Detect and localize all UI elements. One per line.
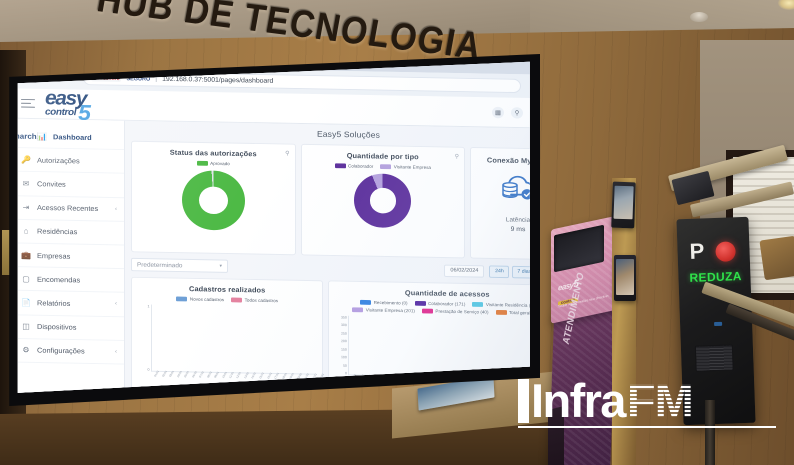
sidebar-item-residencias[interactable]: ⌂ Residências — [12, 220, 124, 246]
sidebar-item-configuracoes[interactable]: ⚙ Configurações ‹ — [12, 339, 124, 365]
chevron-icon: ‹ — [115, 349, 117, 355]
smoke-detector-icon — [690, 12, 708, 22]
totem-status-text: REDUZA — [689, 269, 742, 285]
sidebar-item-convites[interactable]: ✉ Convites — [12, 172, 124, 198]
bar-slot — [419, 317, 426, 376]
grid-icon[interactable]: ▦ — [492, 106, 504, 118]
bar-slot — [377, 316, 384, 375]
latency-value: 9 ms — [511, 226, 526, 233]
bar-slot — [447, 318, 454, 377]
y-tick: 0 — [148, 368, 150, 372]
bar-slot — [384, 316, 391, 375]
chevron-down-icon: ▾ — [219, 263, 222, 269]
sidebar-item-dispositivos[interactable]: ◫ Dispositivos — [12, 315, 124, 341]
tablet-upper[interactable] — [611, 182, 636, 229]
chart-title: Quantidade de acessos — [334, 287, 534, 300]
sidebar-item-label: Convites — [37, 180, 66, 189]
card-conexao-myeasy: Conexão MyEasy — [470, 147, 534, 260]
legend-label: Todos cadastros — [245, 298, 278, 303]
device-icon: ◫ — [21, 322, 31, 332]
legend-acessos: Recebimento (0)Colaborador (171)Visitant… — [334, 299, 534, 315]
bar-slot — [468, 318, 475, 377]
y-tick: 200 — [341, 340, 347, 344]
legend-status: Aprovado — [137, 160, 290, 168]
legend-item: Visitante Empresa (201) — [352, 307, 415, 313]
legend-swatch — [335, 163, 346, 168]
bar-slot — [412, 317, 419, 376]
legend-swatch — [176, 297, 187, 302]
tablet-lower[interactable] — [614, 255, 636, 301]
y-tick: 100 — [341, 355, 347, 359]
legend-label: Visitante Residência (0) — [486, 302, 534, 308]
app-header-actions: ▦ ⚲ ☏ — [492, 105, 534, 120]
legend-swatch — [197, 161, 208, 166]
legend-label: Aprovado — [210, 161, 230, 166]
legend-item: Visitante Residência (0) — [472, 302, 534, 308]
sidebar-item-label: Encomendas — [37, 275, 80, 284]
magnifier-icon[interactable]: ⚲ — [285, 150, 289, 157]
logo-five-text: 5 — [78, 105, 91, 120]
donut-tipo-wrap — [307, 172, 460, 229]
legend-label: Recebimento (0) — [374, 300, 408, 305]
sidebar-item-label: Dispositivos — [37, 322, 76, 331]
bar-slot — [482, 318, 489, 377]
magnifier-icon[interactable]: ⚲ — [455, 153, 459, 160]
bar-slot — [405, 317, 412, 376]
legend-label: Colaborador (171) — [428, 301, 465, 306]
easycontrol-logo: easy control 5 — [45, 90, 91, 118]
legend-swatch — [352, 307, 363, 312]
card-title: Status das autorizações — [137, 147, 290, 158]
donut-status-wrap — [137, 169, 290, 231]
sidebar-item-label: Configurações — [37, 346, 85, 355]
bar-slot — [370, 316, 377, 375]
bar-slot — [433, 317, 440, 376]
plot-area — [151, 305, 315, 375]
bar-slot — [363, 316, 370, 375]
bar-chart-icon: march; — [21, 131, 31, 141]
sidebar: march; 📊 Dashboard 🔑 Autorizações ✉ Conv… — [12, 119, 125, 396]
tablet-upper-screen — [614, 186, 634, 220]
chart-title: Cadastros realizados — [137, 284, 317, 296]
kiosk-stand — [548, 406, 564, 465]
page-title: Easy5 Soluções — [131, 126, 534, 143]
legend-label: Novos cadastros — [190, 297, 224, 302]
legend-item: Prestação de Serviço (40) — [422, 309, 489, 315]
sidebar-item-encomendas[interactable]: ▢ Encomendas — [12, 267, 124, 293]
main-content: Easy5 Soluções Status das autorizações ⚲… — [125, 121, 534, 399]
bar-slot — [454, 318, 461, 377]
omnibox-url: 192.168.0.37:5001/pages/dashboard — [162, 76, 273, 85]
logo-row2: control 5 — [45, 104, 91, 118]
sidebar-item-dashboard[interactable]: march; 📊 Dashboard — [12, 124, 124, 150]
bar-slot — [349, 316, 356, 375]
legend-item: Total geral (474) — [496, 310, 534, 316]
legend-swatch — [360, 300, 371, 305]
legend-swatch — [415, 301, 426, 306]
filter-spacer — [233, 266, 439, 270]
card-cadastros-realizados: Cadastros realizados Novos cadastrosTodo… — [131, 277, 323, 394]
card-status-autorizacoes: Status das autorizações ⚲ Aprovado — [131, 141, 296, 256]
period-select[interactable]: Predeterminado ▾ — [131, 258, 228, 273]
top-card-row: Status das autorizações ⚲ Aprovado Quant… — [131, 141, 534, 261]
parking-totem: P REDUZA — [676, 217, 755, 425]
app-body: march; 📊 Dashboard 🔑 Autorizações ✉ Conv… — [12, 119, 534, 399]
sidebar-item-relatorios[interactable]: 📄 Relatórios ‹ — [12, 291, 124, 317]
logo-control-text: control — [45, 109, 76, 118]
legend-swatch — [231, 298, 242, 303]
legend-label: Visitante Empresa — [394, 164, 431, 169]
chevron-icon: ‹ — [115, 301, 117, 307]
range-button-group: 24h 7 dias 30 dias — [489, 265, 534, 279]
legend-item: Recebimento (0) — [360, 300, 407, 306]
sidebar-item-autorizacoes[interactable]: 🔑 Autorizações — [12, 148, 124, 174]
bar-slot — [475, 318, 482, 377]
briefcase-icon: 💼 — [21, 250, 31, 260]
legend-item: Visitante Empresa — [380, 164, 431, 170]
legend-item: Colaborador (171) — [415, 301, 466, 307]
card-title: Quantidade por tipo — [307, 151, 460, 162]
period-select-value: Predeterminado — [137, 261, 182, 268]
gear-icon: ⚙ — [21, 345, 31, 355]
chevron-icon: ‹ — [115, 206, 117, 212]
chart-cadastros-realizados: 10 01/0102/0103/0104/0105/0106/0107/0108… — [137, 304, 317, 388]
sidebar-item-label: Relatórios — [37, 299, 70, 308]
login-icon: ⇥ — [21, 203, 31, 213]
y-tick: 1 — [148, 304, 150, 308]
legend-item: Aprovado — [197, 161, 230, 166]
search-icon[interactable]: ⚲ — [511, 107, 523, 119]
tablet-lower-screen — [616, 259, 634, 295]
bar-slot — [489, 318, 496, 377]
legend-tipo: ColaboradorVisitante Empresa — [307, 163, 460, 171]
filter-bar: Predeterminado ▾ 06/02/2024 24h 7 dias 3… — [131, 257, 534, 280]
date-input[interactable]: 06/02/2024 — [444, 264, 484, 277]
legend-item: Colaborador — [335, 163, 374, 168]
sidebar-item-label: Empresas — [37, 251, 70, 260]
bar-slot — [440, 317, 447, 376]
card-title: Conexão MyEasy — [487, 156, 534, 166]
legend-swatch — [496, 310, 507, 315]
y-tick: 150 — [341, 347, 347, 351]
sidebar-item-label: Acessos Recentes — [37, 203, 98, 213]
donut-chart-status — [182, 170, 245, 231]
y-axis: 10 — [137, 304, 151, 371]
legend-cadastros: Novos cadastrosTodos cadastros — [137, 296, 317, 304]
bar-slot — [391, 317, 398, 376]
sidebar-item-acessos-recentes[interactable]: ⇥ Acessos Recentes ‹ — [12, 196, 124, 222]
latency-label: Latência — [506, 217, 530, 224]
legend-swatch — [472, 302, 483, 307]
totem-indicator-light — [715, 241, 736, 262]
legend-label: Prestação de Serviço (40) — [435, 309, 488, 315]
bar-chart-icon-glyph: 📊 — [37, 131, 47, 141]
y-tick: 350 — [341, 316, 347, 320]
sidebar-item-label: Autorizações — [37, 156, 80, 165]
legend-item: Novos cadastros — [176, 297, 224, 303]
package-icon: ▢ — [21, 274, 31, 284]
key-icon: 🔑 — [21, 155, 31, 165]
totem-badge — [714, 322, 722, 326]
totem-letter-p: P — [689, 240, 704, 262]
cloud-database-icon — [497, 173, 534, 209]
card-quantidade-por-tipo: Quantidade por tipo ⚲ ColaboradorVisitan… — [301, 144, 466, 259]
photo-scene: HUB DE TECNOLOGIA ▾ EasyControl × + ← → … — [0, 0, 794, 465]
sidebar-item-label: Residências — [37, 227, 77, 236]
y-tick: 300 — [341, 324, 347, 328]
y-tick: 50 — [343, 363, 347, 367]
y-tick: 250 — [341, 332, 347, 336]
mail-icon: ✉ — [21, 179, 31, 189]
range-button-24h[interactable]: 24h — [489, 265, 509, 278]
sidebar-item-empresas[interactable]: 💼 Empresas — [12, 243, 124, 269]
browser-window: ▾ EasyControl × + ← → ↻ Not secure SEGUR… — [12, 58, 534, 399]
bar-slot — [461, 318, 468, 377]
totem-pole — [705, 400, 715, 465]
legend-label: Colaborador — [348, 164, 373, 169]
tv-screen: ▾ EasyControl × + ← → ↻ Not secure SEGUR… — [12, 58, 534, 399]
menu-toggle-icon[interactable] — [21, 99, 35, 109]
legend-item: Todos cadastros — [231, 298, 278, 304]
totem-led-panel — [695, 344, 734, 371]
file-icon: 📄 — [21, 298, 31, 308]
chair — [759, 236, 794, 281]
sidebar-item-label: Dashboard — [53, 132, 92, 141]
bar-slot — [311, 308, 315, 374]
bar-slot — [426, 317, 433, 376]
legend-swatch — [422, 309, 433, 314]
donut-chart-tipo — [354, 173, 411, 228]
legend-label: Visitante Empresa (201) — [366, 308, 415, 314]
y-tick: 0 — [345, 371, 347, 375]
home-icon: ⌂ — [21, 226, 31, 236]
bar-slot — [398, 317, 405, 376]
legend-swatch — [380, 164, 391, 169]
y-axis: 350300250200150100500 — [334, 316, 348, 376]
date-value: 06/02/2024 — [450, 268, 478, 274]
bar-slot — [356, 316, 363, 375]
